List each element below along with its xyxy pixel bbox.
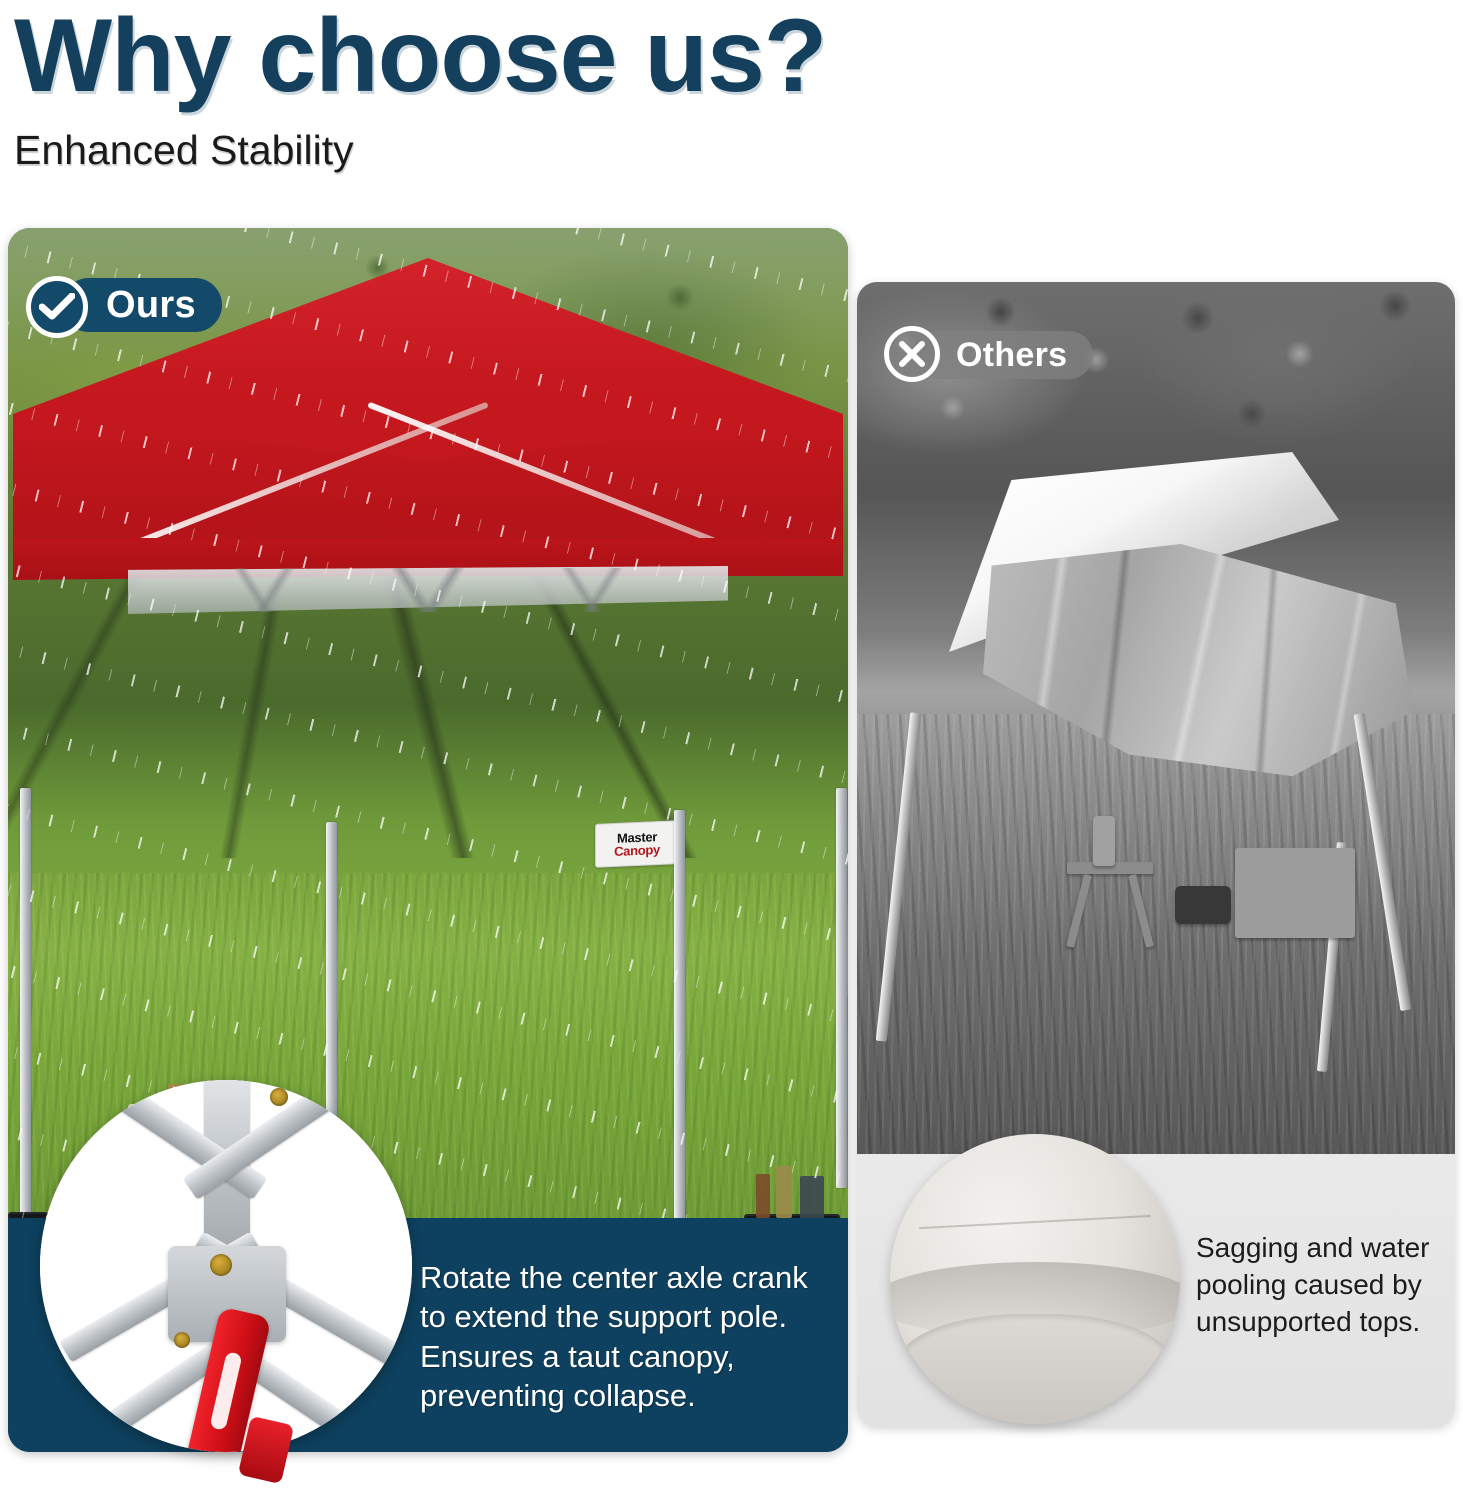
mastercanopy-logo: Master Canopy <box>595 820 679 868</box>
canopy-truss <box>138 568 718 612</box>
logo-line-2: Canopy <box>614 843 660 858</box>
header: Why choose us? Enhanced Stability <box>14 0 826 173</box>
fabric-seam <box>919 1215 1151 1229</box>
ours-photo: Master Canopy <box>8 228 848 1218</box>
canopy-leg-front-left <box>20 788 31 1218</box>
cross-icon <box>884 326 940 382</box>
badge-others-label: Others <box>916 331 1093 379</box>
badge-others: Others <box>884 326 1093 384</box>
hub-screw-top <box>210 1254 232 1276</box>
page-title: Why choose us? <box>14 0 826 112</box>
box-item-b <box>776 1166 792 1218</box>
canopy-leg-rear-right <box>836 788 847 1188</box>
hub-screw-lower <box>174 1332 190 1348</box>
dark-bag <box>1175 886 1231 924</box>
check-icon <box>26 276 88 338</box>
others-detail-inset <box>890 1134 1180 1424</box>
ours-caption-text: Rotate the center axle crank to extend t… <box>420 1258 830 1415</box>
sagging-fabric-fold <box>896 1314 1174 1424</box>
ours-detail-inset <box>40 1080 412 1452</box>
others-photo <box>857 282 1455 1154</box>
others-caption-text: Sagging and water pooling caused by unsu… <box>1196 1230 1446 1341</box>
infographic-page: Why choose us? Enhanced Stability Master… <box>0 0 1463 1500</box>
camp-chair <box>1235 848 1355 938</box>
upper-bracket-screw <box>270 1088 288 1106</box>
box-item-c <box>800 1176 824 1218</box>
stool-jar <box>1093 816 1115 866</box>
badge-ours: Ours <box>26 276 222 334</box>
canopy-leg-front-right <box>674 810 685 1218</box>
box-item-a <box>756 1174 770 1218</box>
page-subtitle: Enhanced Stability <box>14 128 826 173</box>
